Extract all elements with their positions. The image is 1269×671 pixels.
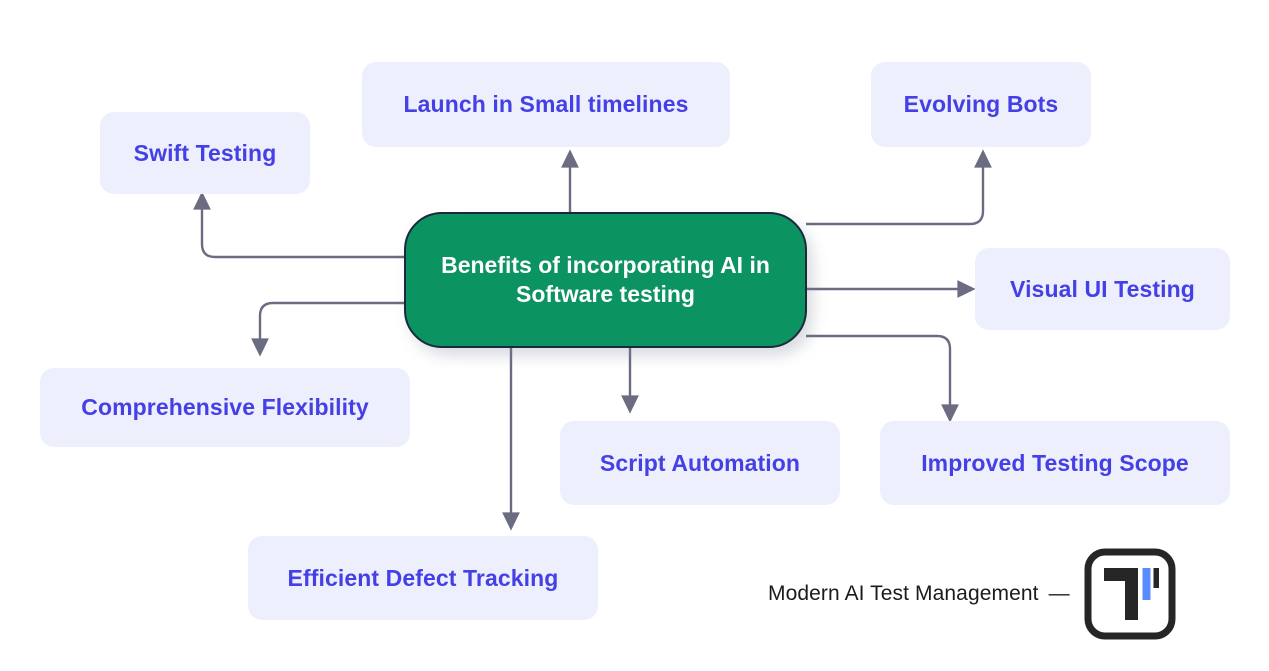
testsigma-logo-icon bbox=[1084, 548, 1176, 640]
footer-branding: Modern AI Test Management — bbox=[768, 548, 1176, 640]
connector-to-evolving-bots bbox=[806, 158, 983, 224]
node-label: Script Automation bbox=[600, 449, 800, 478]
node-evolving-bots[interactable]: Evolving Bots bbox=[871, 62, 1091, 147]
node-label: Launch in Small timelines bbox=[404, 90, 689, 119]
node-script-automation[interactable]: Script Automation bbox=[560, 421, 840, 505]
connector-to-improved-testing-scope bbox=[806, 336, 950, 414]
node-swift-testing[interactable]: Swift Testing bbox=[100, 112, 310, 194]
node-improved-testing-scope[interactable]: Improved Testing Scope bbox=[880, 421, 1230, 505]
footer-tagline: Modern AI Test Management bbox=[768, 582, 1039, 606]
node-launch-in-small-timelines[interactable]: Launch in Small timelines bbox=[362, 62, 730, 147]
node-efficient-defect-tracking[interactable]: Efficient Defect Tracking bbox=[248, 536, 598, 620]
node-label: Comprehensive Flexibility bbox=[81, 393, 369, 422]
connector-to-swift-testing bbox=[202, 200, 404, 257]
center-node-label: Benefits of incorporating AI in Software… bbox=[428, 251, 783, 310]
node-comprehensive-flexibility[interactable]: Comprehensive Flexibility bbox=[40, 368, 410, 447]
connector-to-comprehensive-flexibility bbox=[260, 303, 404, 348]
node-visual-ui-testing[interactable]: Visual UI Testing bbox=[975, 248, 1230, 330]
footer-dash: — bbox=[1049, 582, 1070, 606]
node-label: Swift Testing bbox=[134, 139, 277, 168]
node-label: Evolving Bots bbox=[904, 90, 1059, 119]
node-label: Efficient Defect Tracking bbox=[288, 564, 559, 593]
node-label: Visual UI Testing bbox=[1010, 275, 1195, 304]
node-center-topic[interactable]: Benefits of incorporating AI in Software… bbox=[404, 212, 807, 348]
mindmap-canvas: Swift Testing Launch in Small timelines … bbox=[0, 0, 1269, 671]
node-label: Improved Testing Scope bbox=[921, 449, 1189, 478]
